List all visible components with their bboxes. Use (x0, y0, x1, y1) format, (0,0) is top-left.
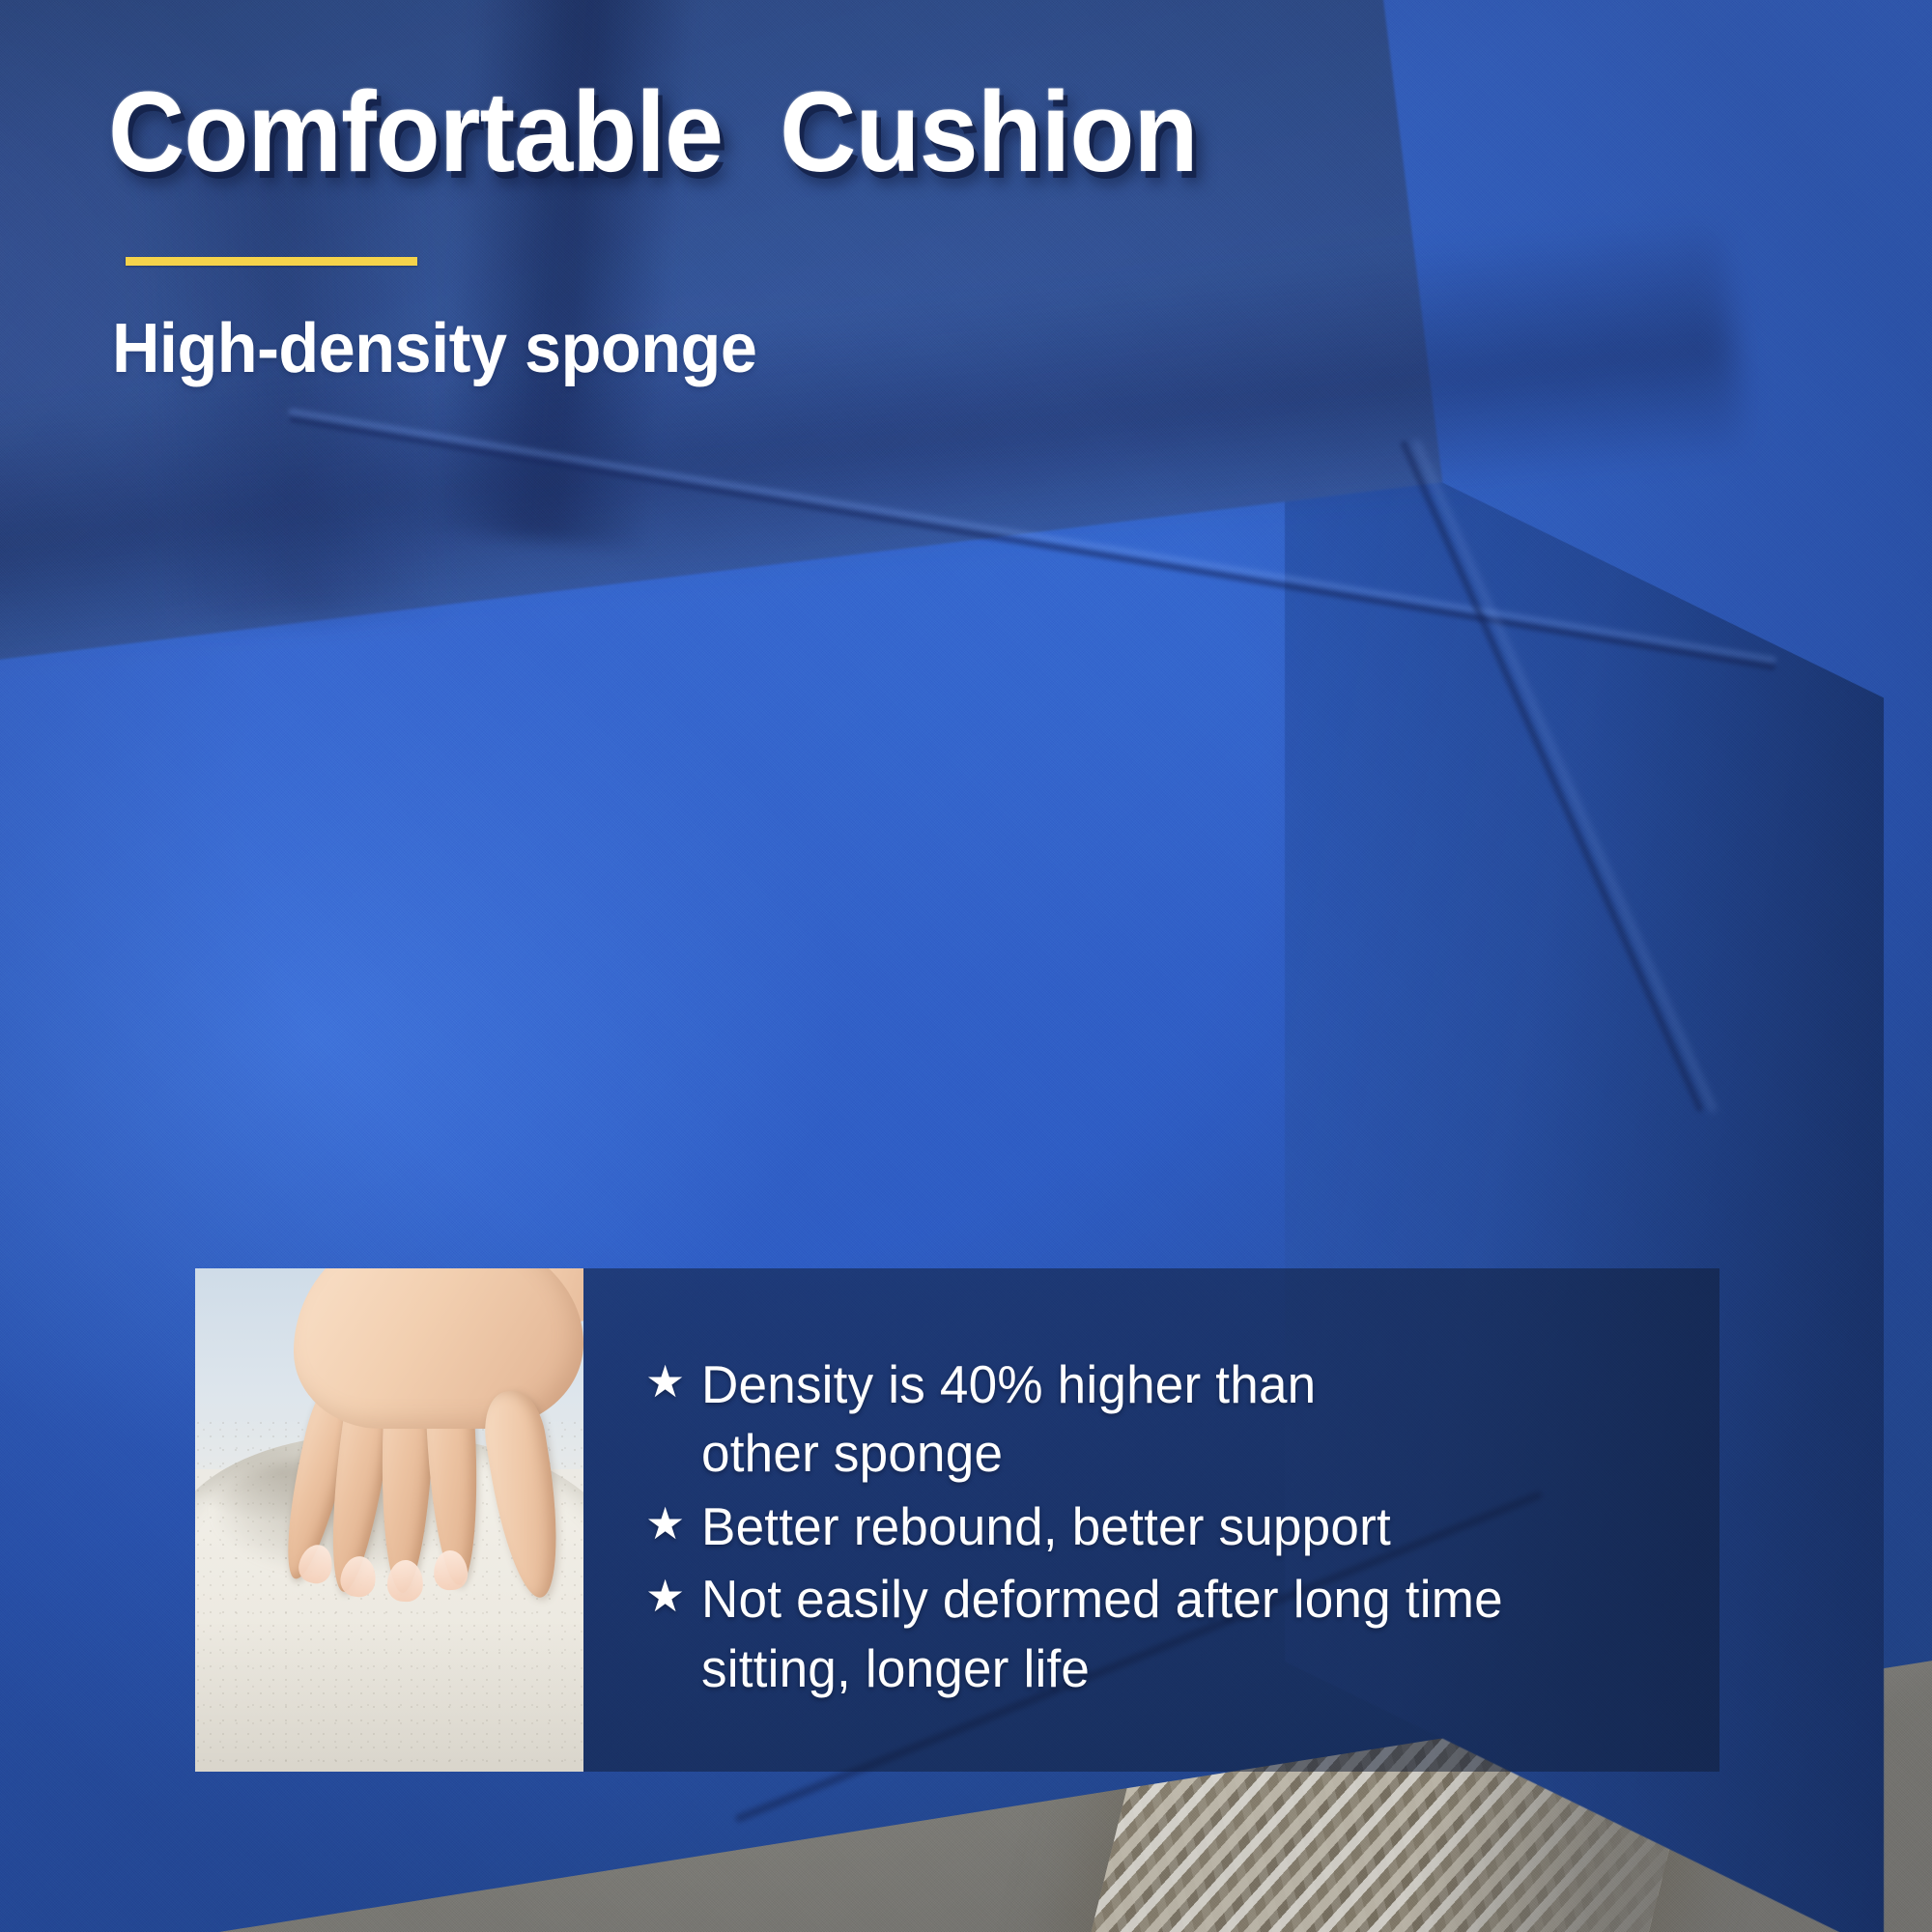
star-icon: ★ (645, 1492, 701, 1555)
page-subtitle: High-density sponge (112, 314, 756, 384)
list-item: ★ Better rebound, better support (645, 1492, 1690, 1562)
feature-panel: ★ Density is 40% higher than other spong… (195, 1268, 1719, 1772)
bullet-text: Not easily deformed after long time sitt… (701, 1565, 1656, 1703)
bullet-text: Better rebound, better support (701, 1492, 1656, 1562)
photo-bottom-shading (195, 1268, 583, 1772)
title-underline-rule (126, 257, 417, 266)
star-icon: ★ (645, 1350, 701, 1413)
foam-press-photo (195, 1268, 583, 1772)
page-title: Comfortable Cushion (108, 75, 1198, 189)
star-icon: ★ (645, 1565, 701, 1628)
product-feature-image: Comfortable Cushion High-density sponge (0, 0, 1932, 1932)
feature-bullet-list: ★ Density is 40% higher than other spong… (583, 1268, 1719, 1772)
bullet-text: Density is 40% higher than other sponge (701, 1350, 1656, 1489)
list-item: ★ Density is 40% higher than other spong… (645, 1350, 1690, 1489)
list-item: ★ Not easily deformed after long time si… (645, 1565, 1690, 1703)
